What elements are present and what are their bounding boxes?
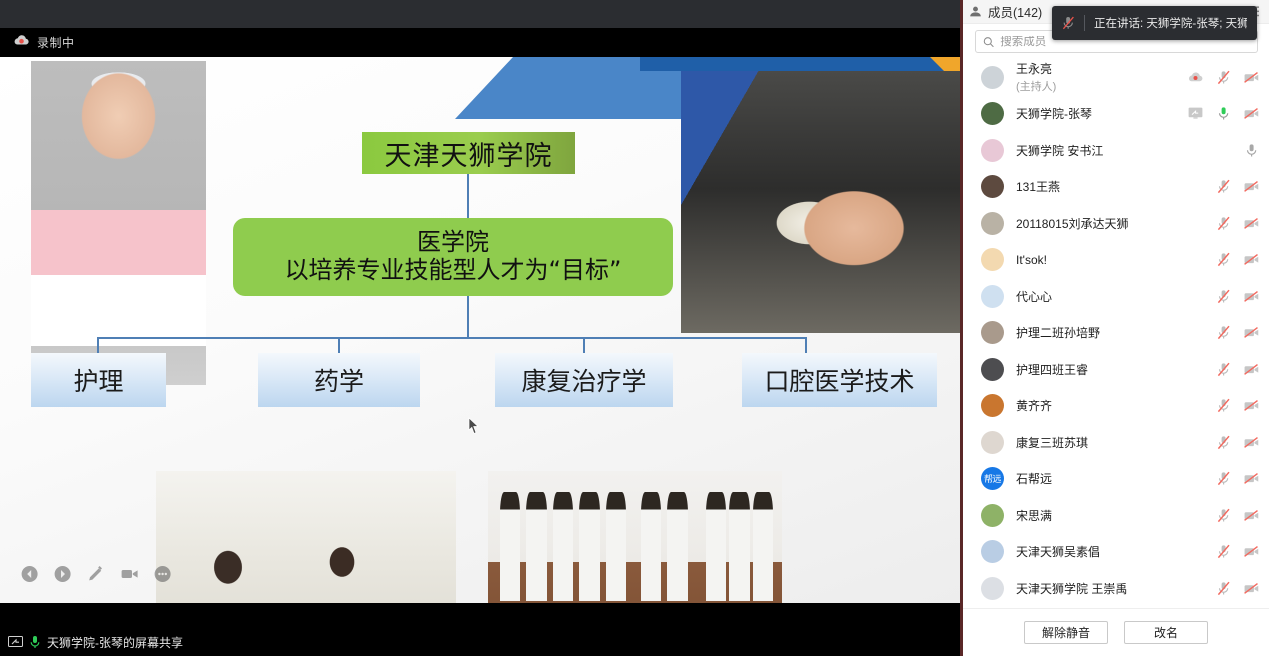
avatar [981, 248, 1004, 271]
people-icon [969, 5, 982, 18]
video-muted-icon[interactable] [1244, 325, 1259, 340]
video-muted-icon[interactable] [1244, 398, 1259, 413]
speaking-toast: 正在讲话: 天狮学院-张琴; 天狮... [1052, 6, 1257, 40]
participant-name-wrap: 天津天狮吴素倡 [1016, 543, 1100, 560]
dept-label-rehab: 康复治疗学 [521, 362, 646, 398]
participant-role: (主持人) [1016, 78, 1056, 94]
mic-muted-icon [1062, 15, 1075, 31]
participant-name: 宋思满 [1016, 507, 1052, 524]
participant-name-wrap: 护理二班孙培野 [1016, 324, 1100, 341]
video-muted-icon[interactable] [1244, 70, 1259, 85]
participant-name: 天狮学院 安书江 [1016, 142, 1103, 159]
participants-list[interactable]: 王永亮(主持人)天狮学院-张琴天狮学院 安书江131王燕20118015刘承达天… [963, 59, 1269, 607]
avatar-initials: 帮远 [981, 467, 1004, 490]
slide-subtitle-line1: 医学院 [417, 229, 489, 257]
participant-name-wrap: 石帮远 [1016, 470, 1052, 487]
participant-name-wrap: 宋思满 [1016, 507, 1052, 524]
empty-slot [1188, 398, 1203, 413]
record-icon[interactable] [1188, 70, 1203, 85]
participant-name: 王永亮 [1016, 60, 1056, 77]
video-muted-icon[interactable] [1244, 508, 1259, 523]
dept-label-nursing: 护理 [73, 362, 123, 398]
pen-annotate-icon[interactable] [86, 563, 105, 585]
participant-status-icons [1188, 216, 1259, 231]
participant-status-icons [1188, 143, 1259, 158]
mic-muted-icon[interactable] [1216, 179, 1231, 194]
recording-cloud-icon [14, 33, 29, 51]
connector-line-title [467, 174, 469, 218]
mic-muted-icon[interactable] [1216, 508, 1231, 523]
dept-box-nursing: 护理 [31, 353, 166, 407]
meeting-window: 录制中 [0, 0, 1269, 656]
participant-name-wrap: It'sok! [1016, 253, 1047, 267]
avatar [981, 394, 1004, 417]
participant-row[interactable]: 王永亮(主持人) [963, 59, 1269, 96]
mic-icon[interactable] [1244, 143, 1259, 158]
participants-count-label: 成员(142) [988, 2, 1042, 21]
dept-label-dental: 口腔医学技术 [764, 362, 914, 398]
video-muted-icon[interactable] [1244, 252, 1259, 267]
share-status-bar: 天狮学院-张琴的屏幕共享 [0, 628, 960, 656]
more-options-icon[interactable] [153, 563, 172, 585]
participant-status-icons [1188, 435, 1259, 450]
participant-row[interactable]: It'sok! [963, 242, 1269, 279]
participant-row[interactable]: 宋思满 [963, 497, 1269, 534]
participant-status-icons [1188, 471, 1259, 486]
participant-name-wrap: 王永亮(主持人) [1016, 60, 1056, 94]
mic-muted-icon[interactable] [1216, 252, 1231, 267]
participant-name: 黄齐齐 [1016, 397, 1052, 414]
participant-name-wrap: 天津天狮学院 王崇禹 [1016, 580, 1127, 597]
slide-decor-blue-strip [640, 57, 960, 71]
mic-on-icon[interactable] [1216, 106, 1231, 121]
participant-status-icons [1188, 289, 1259, 304]
avatar [981, 102, 1004, 125]
participant-status-icons [1188, 179, 1259, 194]
participant-name: 代心心 [1016, 288, 1052, 305]
mic-muted-icon[interactable] [1216, 471, 1231, 486]
search-icon [983, 36, 994, 48]
participants-panel: 成员(142) 王永亮(主持人)天狮学院-张琴天狮学院 安书江131王燕2011… [960, 0, 1269, 656]
video-muted-icon[interactable] [1244, 362, 1259, 377]
slide-subtitle-box: 医学院 以培养专业技能型人才为“目标” [233, 218, 673, 296]
avatar [981, 431, 1004, 454]
participant-name: 康复三班苏琪 [1016, 434, 1088, 451]
participant-status-icons [1188, 508, 1259, 523]
share-status-label: 天狮学院-张琴的屏幕共享 [47, 634, 183, 651]
participant-row[interactable]: 天津天狮吴素倡 [963, 534, 1269, 571]
video-muted-icon[interactable] [1244, 471, 1259, 486]
empty-slot [1188, 544, 1203, 559]
rehab-training-photo [488, 471, 782, 603]
slide-bottom-filler [0, 603, 960, 628]
screen-share-icon[interactable] [1188, 106, 1203, 121]
avatar [981, 540, 1004, 563]
participant-name: 天津天狮学院 王崇禹 [1016, 580, 1127, 597]
participant-row[interactable]: 康复三班苏琪 [963, 424, 1269, 461]
participant-name: 天狮学院-张琴 [1016, 105, 1092, 122]
video-muted-icon[interactable] [1244, 289, 1259, 304]
avatar [981, 358, 1004, 381]
avatar [981, 139, 1004, 162]
video-muted-icon[interactable] [1244, 581, 1259, 596]
avatar [981, 175, 1004, 198]
pharmacy-photo [156, 471, 456, 603]
participant-name: 护理二班孙培野 [1016, 324, 1100, 341]
participant-status-icons [1188, 544, 1259, 559]
empty-slot [1188, 289, 1203, 304]
participant-name: 131王燕 [1016, 178, 1060, 195]
dept-box-pharmacy: 药学 [258, 353, 420, 407]
participant-name-wrap: 天狮学院-张琴 [1016, 105, 1092, 122]
empty-slot [1188, 362, 1203, 377]
participants-footer: 解除静音 改名 [963, 608, 1269, 656]
participant-row[interactable]: 20118015刘承达天狮 [963, 205, 1269, 242]
participant-name-wrap: 代心心 [1016, 288, 1052, 305]
empty-slot [1188, 179, 1203, 194]
slide-title-box: 天津天狮学院 [362, 132, 575, 174]
mic-muted-icon[interactable] [1216, 325, 1231, 340]
avatar [981, 212, 1004, 235]
screen-share-icon [8, 636, 23, 649]
slide-title: 天津天狮学院 [385, 134, 553, 173]
connector-line-vertical-main [467, 296, 469, 338]
microphone-icon [29, 635, 41, 649]
participant-status-icons [1188, 252, 1259, 267]
participant-row[interactable]: 天狮学院-张琴 [963, 96, 1269, 133]
dept-box-dental: 口腔医学技术 [742, 353, 937, 407]
rename-button[interactable]: 改名 [1124, 621, 1208, 644]
slide-media-toolbar[interactable] [12, 557, 172, 591]
unmute-button[interactable]: 解除静音 [1024, 621, 1108, 644]
previous-slide-icon[interactable] [20, 563, 39, 585]
participant-name: 20118015刘承达天狮 [1016, 215, 1129, 232]
participant-row[interactable]: 黄齐齐 [963, 388, 1269, 425]
avatar [981, 66, 1004, 89]
mic-muted-icon[interactable] [1216, 398, 1231, 413]
participant-status-icons [1188, 398, 1259, 413]
participant-name-wrap: 20118015刘承达天狮 [1016, 215, 1129, 232]
dept-box-rehab: 康复治疗学 [495, 353, 673, 407]
video-muted-icon[interactable] [1244, 106, 1259, 121]
participant-row[interactable]: 护理四班王睿 [963, 351, 1269, 388]
mic-muted-icon[interactable] [1216, 70, 1231, 85]
slide-subtitle-line2: 以培养专业技能型人才为“目标” [285, 257, 622, 285]
participant-name-wrap: 护理四班王睿 [1016, 361, 1088, 378]
participant-row[interactable]: 护理二班孙培野 [963, 315, 1269, 352]
dental-lab-photo [681, 71, 960, 333]
mic-muted-icon[interactable] [1216, 581, 1231, 596]
empty-slot [1188, 252, 1203, 267]
empty-slot [1188, 508, 1203, 523]
participant-status-icons [1188, 581, 1259, 596]
participant-name-wrap: 天狮学院 安书江 [1016, 142, 1103, 159]
connector-line-horizontal [97, 337, 807, 339]
video-muted-icon[interactable] [1244, 435, 1259, 450]
avatar [981, 577, 1004, 600]
participant-status-icons [1188, 325, 1259, 340]
participant-status-icons [1188, 106, 1259, 121]
participant-row[interactable]: 帮远石帮远 [963, 461, 1269, 498]
participant-status-icons [1188, 70, 1259, 85]
empty-slot [1188, 325, 1203, 340]
mic-muted-icon[interactable] [1216, 544, 1231, 559]
participant-name: It'sok! [1016, 253, 1047, 267]
participant-row[interactable]: 天狮学院 安书江 [963, 132, 1269, 169]
empty-slot [1216, 143, 1231, 158]
participant-name: 石帮远 [1016, 470, 1052, 487]
video-muted-icon[interactable] [1244, 216, 1259, 231]
video-icon[interactable] [120, 563, 139, 585]
video-muted-icon[interactable] [1244, 544, 1259, 559]
participant-row[interactable]: 天津天狮学院 王崇禹 [963, 570, 1269, 607]
empty-slot [1188, 435, 1203, 450]
empty-slot [1188, 216, 1203, 231]
avatar [981, 504, 1004, 527]
presentation-slide: 天津天狮学院 医学院 以培养专业技能型人才为“目标” 护理 药学 康复治疗学 口… [0, 57, 960, 603]
empty-slot [1188, 581, 1203, 596]
mouse-cursor [468, 417, 480, 435]
participant-name-wrap: 康复三班苏琪 [1016, 434, 1088, 451]
participant-name: 护理四班王睿 [1016, 361, 1088, 378]
recording-label: 录制中 [37, 34, 75, 51]
speaking-toast-text: 正在讲话: 天狮学院-张琴; 天狮... [1094, 15, 1247, 31]
shared-screen-area: 录制中 [0, 0, 960, 656]
empty-slot [1188, 471, 1203, 486]
video-muted-icon[interactable] [1244, 179, 1259, 194]
participant-row[interactable]: 代心心 [963, 278, 1269, 315]
participant-name-wrap: 131王燕 [1016, 178, 1060, 195]
participant-name-wrap: 黄齐齐 [1016, 397, 1052, 414]
dept-label-pharmacy: 药学 [314, 362, 364, 398]
next-slide-icon[interactable] [53, 563, 72, 585]
participant-name: 天津天狮吴素倡 [1016, 543, 1100, 560]
avatar [981, 285, 1004, 308]
mic-muted-icon[interactable] [1216, 362, 1231, 377]
empty-slot [1188, 143, 1203, 158]
window-titlebar [0, 0, 960, 28]
avatar: 帮远 [981, 467, 1004, 490]
participant-row[interactable]: 131王燕 [963, 169, 1269, 206]
mic-muted-icon[interactable] [1216, 289, 1231, 304]
participant-status-icons [1188, 362, 1259, 377]
mic-muted-icon[interactable] [1216, 435, 1231, 450]
avatar [981, 321, 1004, 344]
mic-muted-icon[interactable] [1216, 216, 1231, 231]
recording-indicator-bar: 录制中 [0, 28, 960, 56]
